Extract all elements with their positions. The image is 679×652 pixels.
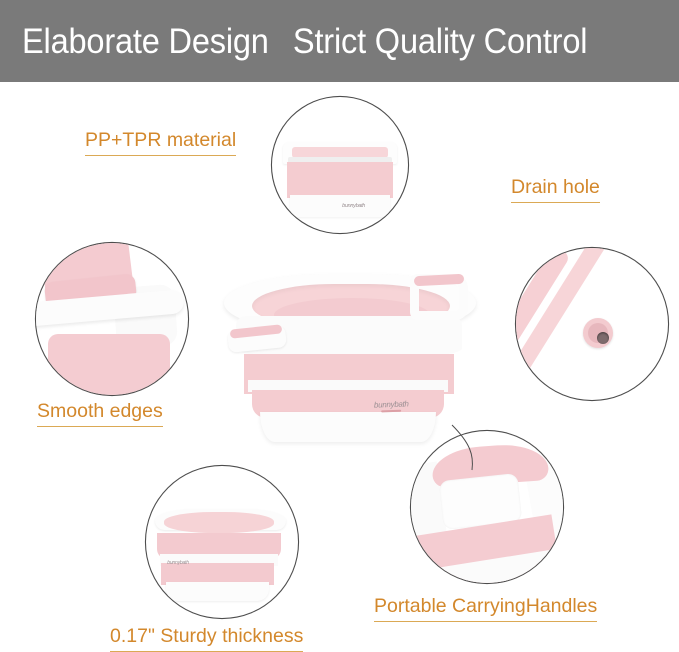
- callout-sturdy-thickness: bunnybath: [146, 466, 298, 618]
- header-title-right: Strict Quality Control: [293, 22, 587, 61]
- drain-hole-grommet: [583, 318, 613, 348]
- callout-sturdy-thickness-image: bunnybath: [146, 466, 298, 618]
- callout-pp-tpr-image: bunnybath: [272, 97, 408, 233]
- callout-smooth-edges-image: [36, 243, 188, 395]
- feature-label-carrying-handles: Portable CarryingHandles: [374, 597, 597, 622]
- basket-lower-pink-band: [48, 334, 170, 395]
- hero-product-image: bunnybath: [222, 272, 478, 450]
- feature-label-sturdy-thickness: 0.17" Sturdy thickness: [110, 627, 303, 652]
- brand-logo: bunnybath: [374, 399, 409, 412]
- callout-drain-hole: [516, 248, 668, 400]
- brand-logo-text: bunnybath: [374, 399, 409, 409]
- infographic-page: Elaborate DesignStrict Quality Control b…: [0, 0, 679, 652]
- basket-interior: [164, 512, 273, 533]
- brand-logo: bunnybath: [167, 560, 189, 566]
- drain-hole-opening: [597, 332, 609, 344]
- callout-drain-hole-image: [516, 248, 668, 400]
- brand-logo: bunnybath: [336, 203, 371, 213]
- feature-label-drain-hole: Drain hole: [511, 178, 600, 203]
- basket-base: [166, 582, 269, 602]
- header-title: Elaborate DesignStrict Quality Control: [22, 24, 587, 59]
- callout-carrying-handles: [411, 431, 563, 583]
- header-title-left: Elaborate Design: [22, 22, 269, 61]
- header-banner: Elaborate DesignStrict Quality Control: [0, 0, 679, 82]
- basket-pink-silicone-band: [287, 162, 393, 197]
- callout-smooth-edges: [36, 243, 188, 395]
- basket-base: [260, 412, 436, 442]
- callout-pp-tpr-material: bunnybath: [272, 97, 408, 233]
- feature-label-pp-tpr-material: PP+TPR material: [85, 131, 236, 156]
- drain-hole-ring: [588, 323, 608, 343]
- feature-label-smooth-edges: Smooth edges: [37, 402, 163, 427]
- callout-carrying-handles-image: [411, 431, 563, 583]
- pink-band-right: [516, 248, 634, 393]
